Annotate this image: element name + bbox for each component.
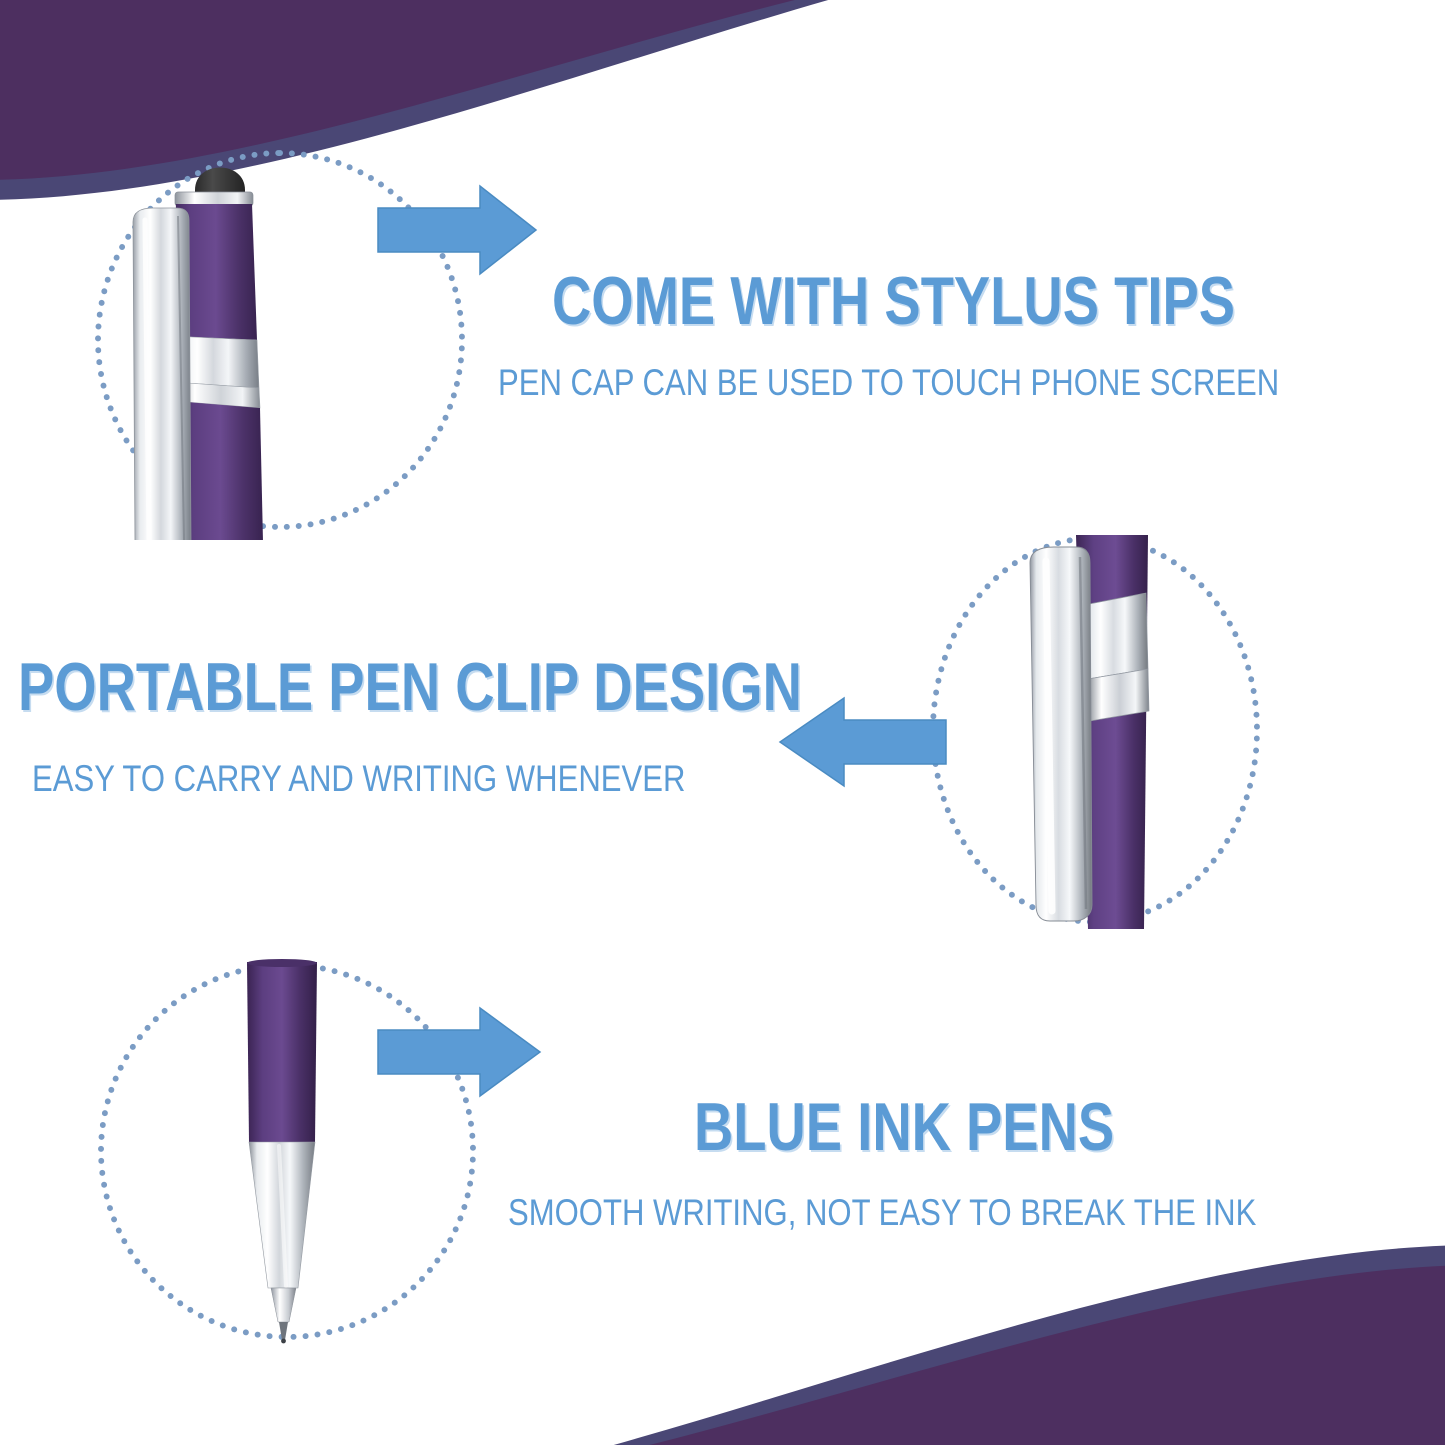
feature-2-headline-text: PORTABLE PEN CLIP DESIGN [18, 648, 802, 726]
feature-1-subline: PEN CAP CAN BE USED TO TOUCH PHONE SCREE… [498, 362, 1428, 404]
infographic-canvas: COME WITH STYLUS TIPS PEN CAP CAN BE USE… [0, 0, 1445, 1445]
feature-stylus-tips: COME WITH STYLUS TIPS PEN CAP CAN BE USE… [0, 0, 1445, 520]
pen-stylus-cap-illustration [115, 150, 375, 540]
arrow-right-icon [372, 1002, 547, 1102]
feature-1-headline-text: COME WITH STYLUS TIPS [552, 262, 1235, 340]
feature-2-subline: EASY TO CARRY AND WRITING WHENEVER [32, 758, 810, 800]
pen-clip-illustration [988, 533, 1218, 931]
arrow-right-icon [372, 180, 542, 280]
feature-1-subline-text: PEN CAP CAN BE USED TO TOUCH PHONE SCREE… [498, 362, 1279, 404]
feature-1-headline: COME WITH STYLUS TIPS [552, 262, 1406, 340]
feature-3-headline: BLUE INK PENS [694, 1088, 1219, 1166]
pen-tip-illustration [216, 956, 366, 1346]
feature-2-subline-text: EASY TO CARRY AND WRITING WHENEVER [32, 758, 685, 800]
feature-2-image-zone [930, 535, 1260, 925]
feature-3-subline: SMOOTH WRITING, NOT EASY TO BREAK THE IN… [508, 1192, 1399, 1234]
feature-2-headline: PORTABLE PEN CLIP DESIGN [18, 648, 998, 726]
feature-blue-ink: BLUE INK PENS SMOOTH WRITING, NOT EASY T… [0, 940, 1445, 1360]
feature-pen-clip: PORTABLE PEN CLIP DESIGN EASY TO CARRY A… [0, 520, 1445, 940]
feature-3-headline-text: BLUE INK PENS [694, 1088, 1114, 1166]
feature-3-subline-text: SMOOTH WRITING, NOT EASY TO BREAK THE IN… [508, 1192, 1256, 1234]
